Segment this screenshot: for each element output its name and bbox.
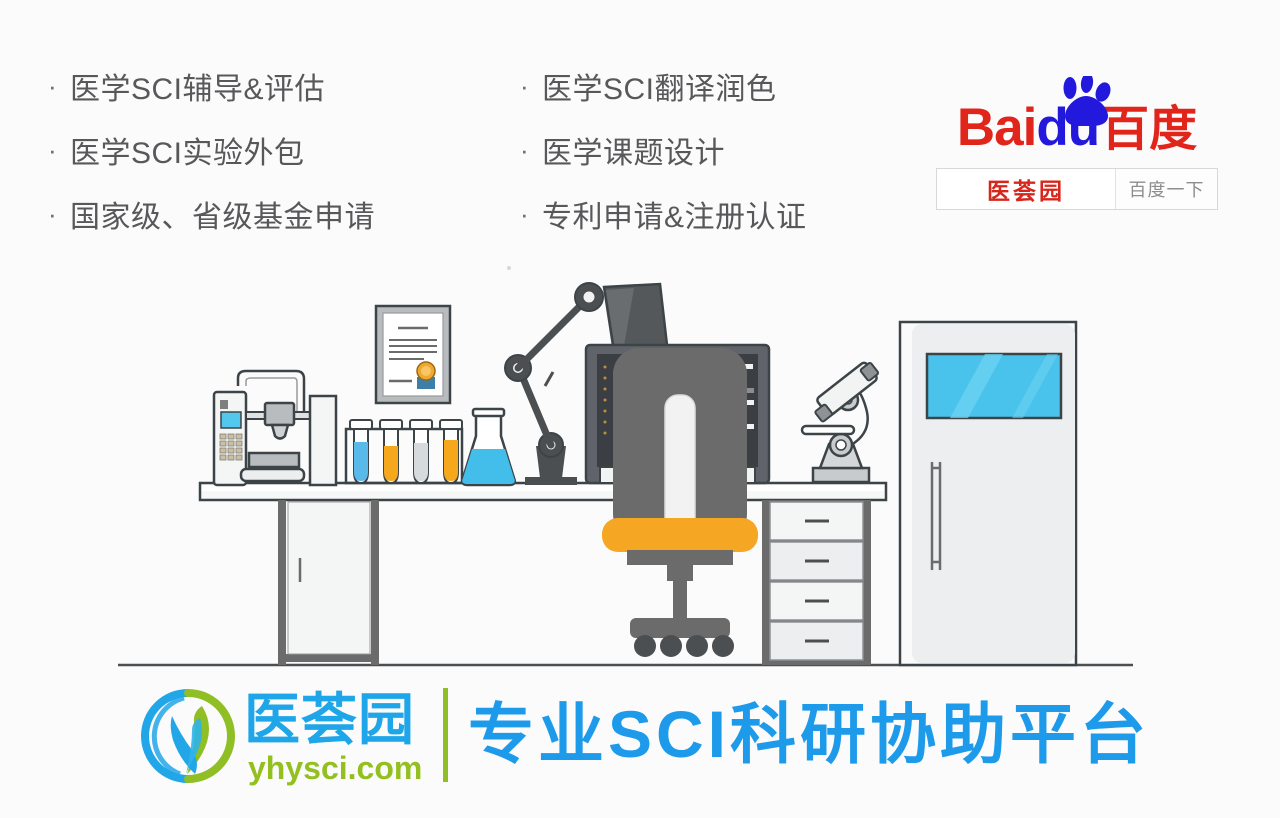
analyzer-display <box>221 412 241 428</box>
bullet-dot-icon: · <box>520 73 542 99</box>
bullet-dot-icon: · <box>48 137 70 163</box>
drawer-cabinet <box>762 500 871 665</box>
test-tube <box>440 420 462 483</box>
chair-wheel <box>686 635 708 657</box>
lamp-base <box>525 477 577 485</box>
office-chair <box>602 348 758 657</box>
microscope-base <box>813 468 869 482</box>
baidu-paw-icon <box>1056 76 1118 128</box>
bullet-dot-icon: · <box>48 201 70 227</box>
test-tube <box>350 420 372 483</box>
bullet-dot-icon: · <box>48 73 70 99</box>
baidu-search-input[interactable]: 医荟园 <box>937 169 1115 209</box>
chair-wheel <box>634 635 656 657</box>
service-item: · 专利申请&注册认证 <box>520 182 807 246</box>
baidu-logo: Bai du 百度 <box>936 88 1218 154</box>
service-label: 医学SCI实验外包 <box>70 128 305 172</box>
service-list-right: · 医学SCI翻译润色 · 医学课题设计 · 专利申请&注册认证 <box>520 54 807 246</box>
microscope <box>802 361 879 482</box>
laboratory-refrigerator <box>900 322 1076 665</box>
brand-name-cn: 医荟园 <box>244 692 415 748</box>
baidu-search-button[interactable]: 百度一下 <box>1115 169 1217 209</box>
test-tube-rack <box>346 420 462 483</box>
service-item: · 医学SCI辅导&评估 <box>48 54 375 118</box>
bullet-dot-icon: · <box>520 201 542 227</box>
baidu-logo-bai: Bai <box>957 101 1036 154</box>
chair-seat <box>602 518 758 552</box>
lab-analyzer-machine <box>214 371 336 485</box>
brand-logo: 医荟园 yhysci.com <box>140 686 440 786</box>
poster-canvas: · 医学SCI辅导&评估 · 医学SCI实验外包 · 国家级、省级基金申请 · … <box>0 0 1280 818</box>
service-item: · 医学SCI翻译润色 <box>520 54 807 118</box>
service-label: 医学课题设计 <box>542 128 725 172</box>
test-tube <box>380 420 402 483</box>
footer-brand-bar: 医荟园 yhysci.com 专业SCI科研协助平台 <box>0 672 1280 818</box>
service-item: · 医学课题设计 <box>520 118 807 182</box>
bullet-dot-icon: · <box>520 137 542 163</box>
baidu-search-bar[interactable]: 医荟园 百度一下 <box>936 168 1218 210</box>
baidu-search-block: Bai du 百度 医荟园 百度一下 <box>936 88 1218 210</box>
service-item: · 国家级、省级基金申请 <box>48 182 375 246</box>
chair-wheel <box>660 635 682 657</box>
microscope-stage <box>802 426 854 434</box>
framed-certificate <box>376 306 450 403</box>
brand-url: yhysci.com <box>248 752 422 784</box>
erlenmeyer-flask <box>462 409 515 485</box>
ambient-dot <box>507 266 511 270</box>
service-label: 医学SCI翻译润色 <box>542 64 777 108</box>
laboratory-workspace-illustration <box>0 240 1280 680</box>
service-list-left: · 医学SCI辅导&评估 · 医学SCI实验外包 · 国家级、省级基金申请 <box>48 54 375 246</box>
service-item: · 医学SCI实验外包 <box>48 118 375 182</box>
service-label: 国家级、省级基金申请 <box>70 192 375 236</box>
service-label: 专利申请&注册认证 <box>542 192 807 236</box>
yhysci-leaf-circle-logo <box>140 688 236 784</box>
footer-tagline: 专业SCI科研协助平台 <box>468 686 1150 782</box>
service-label: 医学SCI辅导&评估 <box>70 64 325 108</box>
test-tube <box>410 420 432 483</box>
chair-wheel <box>712 635 734 657</box>
brand-divider <box>443 688 448 782</box>
